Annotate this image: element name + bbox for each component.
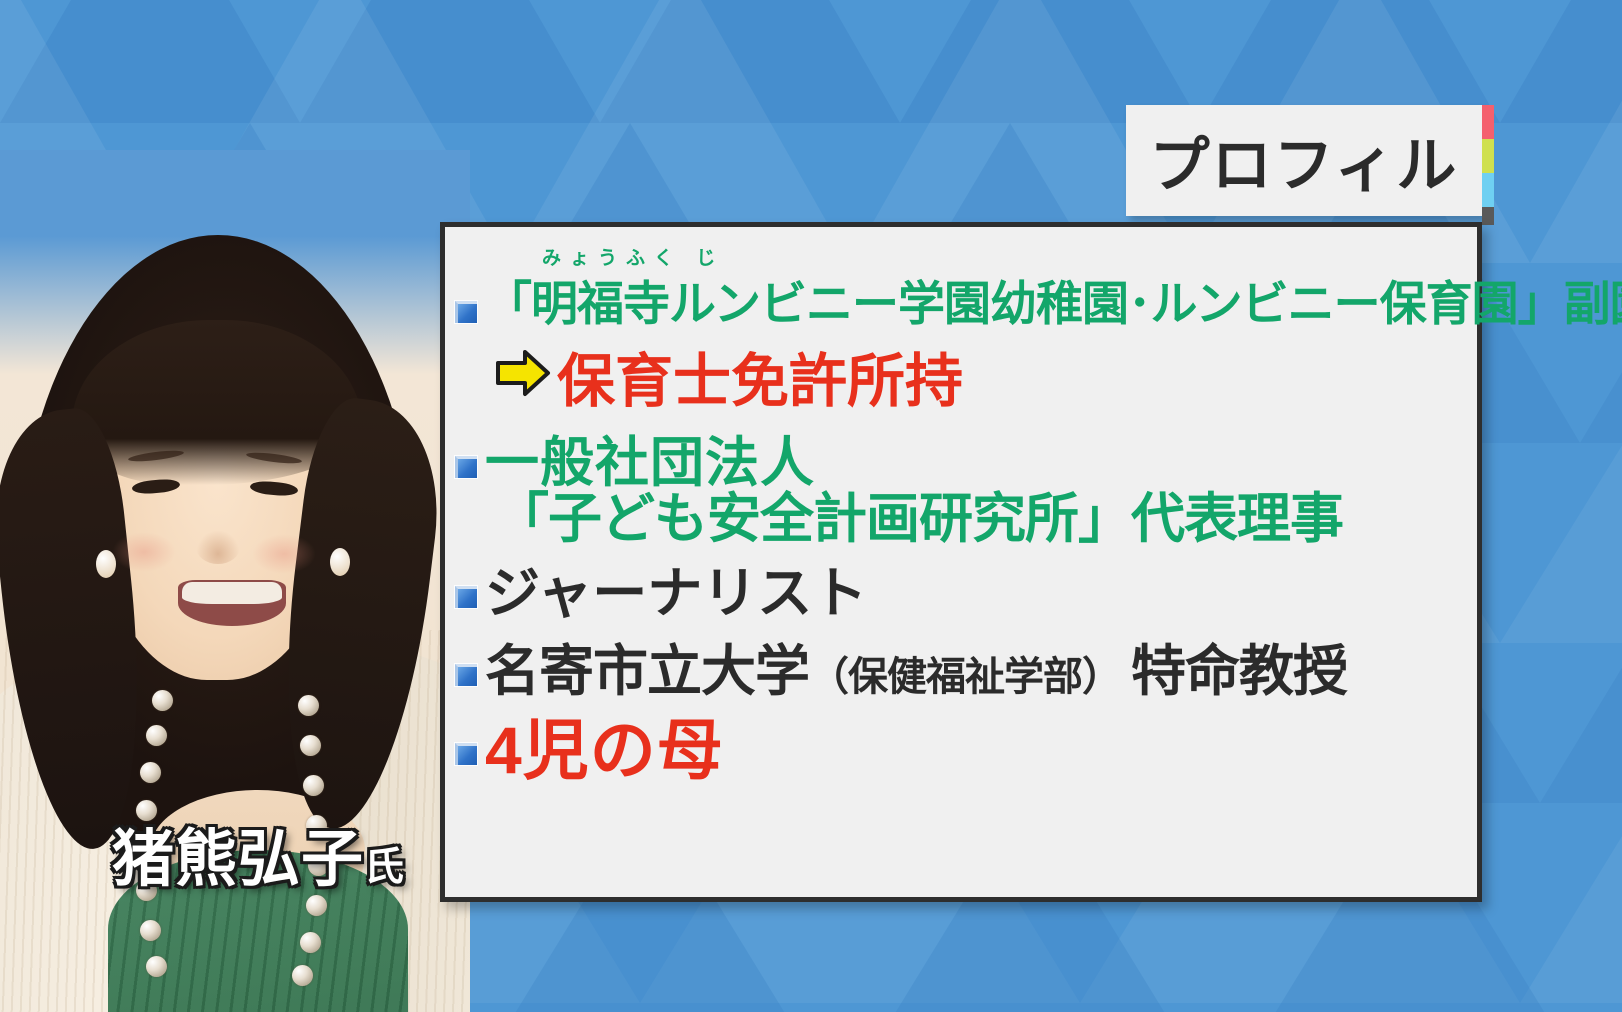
necklace-bead [303, 775, 324, 796]
necklace-bead [140, 920, 161, 941]
profile-row-license: 保育士免許所持 [495, 334, 1461, 418]
earring-left [96, 550, 116, 578]
stripe-segment-gray [1482, 207, 1494, 225]
university-text: 名寄市立大学（保健福祉学部）特命教授 [485, 642, 1347, 701]
nose [196, 530, 240, 564]
necklace-bead [152, 690, 173, 711]
profile-row-mother: 4児の母 [455, 715, 1461, 786]
association-name-text: 「子ども安全計画研究所」代表理事 [495, 490, 1343, 548]
journalist-text: ジャーナリスト [485, 564, 867, 623]
affiliation-rest: ルンビニー学園幼稚園･ルンビニー保育園」副園長 [669, 277, 1622, 330]
necklace-bead [300, 932, 321, 953]
stripe-segment-red [1482, 105, 1494, 139]
earring-right [330, 548, 350, 576]
furigana: みょうふく じ [542, 249, 724, 270]
university-name: 名寄市立大学 [485, 640, 809, 702]
blue-square-bullet-icon [455, 743, 477, 765]
necklace-bead [146, 956, 167, 977]
profile-row-university: 名寄市立大学（保健福祉学部）特命教授 [455, 642, 1461, 701]
subject-name-suffix: 氏 [364, 845, 405, 889]
profile-row-association: 一般社団法人 [455, 434, 1461, 492]
blue-square-bullet-icon [455, 456, 477, 478]
cheek-left [112, 532, 176, 572]
license-text: 保育士免許所持 [557, 334, 963, 418]
mouth [178, 580, 286, 626]
university-title: 特命教授 [1131, 640, 1347, 702]
ruby-base: 明福寺 [531, 277, 669, 330]
cheek-right [252, 534, 316, 574]
blue-square-bullet-icon [455, 301, 477, 323]
ruby-host: みょうふく じ明福寺 [531, 279, 669, 330]
mother-text: 4児の母 [485, 715, 724, 786]
profile-row-affiliation: 「みょうふく じ明福寺ルンビニー学園幼稚園･ルンビニー保育園」副園長 [455, 279, 1461, 330]
necklace-bead [292, 965, 313, 986]
profile-title-chip: プロフィル [1126, 105, 1482, 216]
profile-row-association-continued: 「子ども安全計画研究所」代表理事 [495, 490, 1461, 548]
necklace-bead [140, 762, 161, 783]
stripe-segment-cyan [1482, 173, 1494, 207]
necklace-bead [298, 695, 319, 716]
title-color-stripe [1482, 105, 1494, 225]
teeth [182, 582, 282, 604]
profile-panel: 「みょうふく じ明福寺ルンビニー学園幼稚園･ルンビニー保育園」副園長 保育士免許… [440, 222, 1482, 902]
profile-row-journalist: ジャーナリスト [455, 564, 1461, 623]
yellow-right-arrow-icon [495, 348, 551, 403]
subject-name: 猪熊弘子 [112, 825, 364, 894]
university-faculty: （保健福祉学部） [809, 655, 1121, 699]
blue-square-bullet-icon [455, 586, 477, 608]
blue-square-bullet-icon [455, 664, 477, 686]
stripe-segment-lime [1482, 139, 1494, 173]
necklace-bead [300, 735, 321, 756]
subject-name-caption: 猪熊弘子氏 [112, 808, 405, 898]
profile-row-affiliation-text: 「みょうふく じ明福寺ルンビニー学園幼稚園･ルンビニー保育園」副園長 [485, 279, 1622, 330]
association-type-text: 一般社団法人 [485, 434, 815, 492]
page-title: プロフィル [1150, 117, 1459, 204]
necklace-bead [306, 895, 327, 916]
necklace-bead [146, 725, 167, 746]
background-chevron [1600, 790, 1622, 1012]
quote-open: 「 [485, 277, 531, 330]
